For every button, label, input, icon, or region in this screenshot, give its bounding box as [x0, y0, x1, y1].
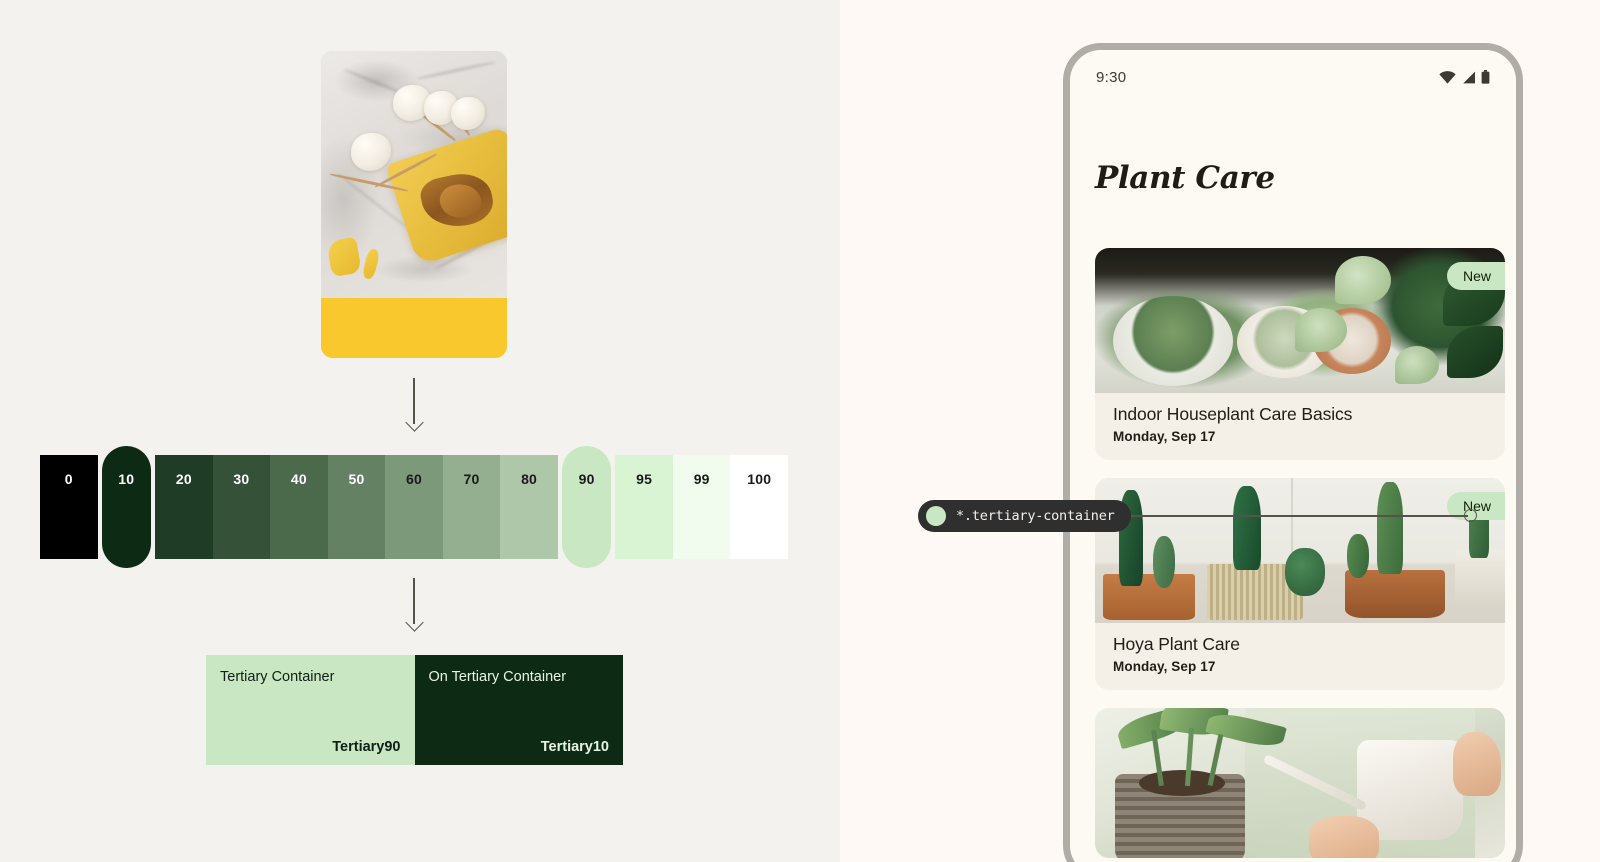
- tone-swatch-80[interactable]: 80: [500, 455, 558, 559]
- color-role-title: Tertiary Container: [220, 669, 401, 685]
- tone-swatch-label: 10: [118, 471, 134, 487]
- card-date: Monday, Sep 17: [1113, 659, 1487, 674]
- card-image-succulents: New: [1095, 248, 1505, 393]
- phone-mockup: 9:30 Plant Care: [1063, 43, 1523, 862]
- tone-swatch-40[interactable]: 40: [270, 455, 328, 559]
- tone-swatch-50[interactable]: 50: [328, 455, 386, 559]
- arrow-down-icon-1: [407, 378, 421, 430]
- tone-swatch-99[interactable]: 99: [673, 455, 731, 559]
- status-bar: 9:30: [1070, 50, 1516, 104]
- small-cactus: [1153, 536, 1175, 588]
- tone-swatch-label: 30: [233, 471, 249, 487]
- token-color-swatch-icon: [926, 506, 946, 526]
- tone-swatch-0[interactable]: 0: [40, 455, 98, 559]
- tone-swatch-70[interactable]: 70: [443, 455, 501, 559]
- card-text: Indoor Houseplant Care Basics Monday, Se…: [1095, 393, 1505, 460]
- tone-swatch-label: 90: [579, 471, 595, 487]
- card-title: Indoor Houseplant Care Basics: [1113, 404, 1487, 425]
- token-name: *.tertiary-container: [956, 508, 1115, 524]
- tone-swatch-label: 80: [521, 471, 537, 487]
- tall-cactus: [1377, 482, 1403, 574]
- tonal-palette-ramp: 01020304050607080909599100: [40, 455, 788, 559]
- tone-swatch-60[interactable]: 60: [385, 455, 443, 559]
- hand: [1309, 816, 1379, 858]
- tone-swatch-label: 60: [406, 471, 422, 487]
- article-card[interactable]: New Hoya Plant Care Monday, Sep 17: [1095, 478, 1505, 690]
- battery-icon: [1481, 70, 1490, 84]
- pot-string-of-pearls: [1113, 296, 1233, 386]
- arrow-down-icon-2: [407, 578, 421, 630]
- tone-swatch-100[interactable]: 100: [730, 455, 788, 559]
- color-role-token: Tertiary90: [332, 739, 400, 755]
- wifi-icon: [1439, 71, 1456, 84]
- tone-swatch-10[interactable]: 10: [102, 446, 152, 568]
- card-image-watering: [1095, 708, 1505, 858]
- tone-swatch-label: 50: [348, 471, 364, 487]
- pot-terracotta-trough: [1103, 574, 1195, 620]
- article-card-list: New Indoor Houseplant Care Basics Monday…: [1095, 248, 1505, 862]
- page-title: Plant Care: [1095, 160, 1275, 196]
- status-bar-icons: [1439, 70, 1490, 84]
- card-image-cacti: New: [1095, 478, 1505, 623]
- new-badge[interactable]: New: [1447, 262, 1505, 290]
- annotation-connector-line: [1118, 515, 1468, 517]
- tone-swatch-label: 99: [694, 471, 710, 487]
- color-role-token: Tertiary10: [541, 739, 609, 755]
- tone-swatch-label: 70: [464, 471, 480, 487]
- status-bar-clock: 9:30: [1096, 69, 1126, 86]
- tone-swatch-20[interactable]: 20: [155, 455, 213, 559]
- color-role-title: On Tertiary Container: [429, 669, 610, 685]
- tone-swatch-label: 0: [65, 471, 73, 487]
- source-photograph: [321, 51, 507, 299]
- token-tooltip[interactable]: *.tertiary-container: [918, 500, 1131, 532]
- color-role-box[interactable]: Tertiary ContainerTertiary90: [206, 655, 415, 765]
- tone-swatch-label: 20: [176, 471, 192, 487]
- tone-swatch-30[interactable]: 30: [213, 455, 271, 559]
- round-leaf: [1335, 256, 1391, 304]
- round-cactus: [1285, 548, 1325, 596]
- tone-swatch-90[interactable]: 90: [562, 446, 612, 568]
- round-leaf: [1295, 308, 1347, 352]
- tone-swatch-label: 100: [747, 471, 771, 487]
- source-image-card[interactable]: [321, 51, 507, 358]
- article-card[interactable]: New Indoor Houseplant Care Basics Monday…: [1095, 248, 1505, 460]
- article-card[interactable]: [1095, 708, 1505, 858]
- color-role-boxes: Tertiary ContainerTertiary90On Tertiary …: [206, 655, 623, 765]
- pot-white: [1455, 550, 1505, 608]
- screenshot-stage: 01020304050607080909599100 Tertiary Cont…: [0, 0, 1600, 862]
- small-cactus: [1347, 534, 1369, 578]
- card-date: Monday, Sep 17: [1113, 429, 1487, 444]
- tall-cactus: [1233, 486, 1261, 570]
- extracted-color-swatch: [321, 298, 507, 358]
- hand: [1453, 732, 1501, 796]
- palette-derivation-panel: 01020304050607080909599100 Tertiary Cont…: [0, 0, 840, 862]
- phone-screen: 9:30 Plant Care: [1070, 50, 1516, 862]
- color-role-box[interactable]: On Tertiary ContainerTertiary10: [415, 655, 624, 765]
- card-title: Hoya Plant Care: [1113, 634, 1487, 655]
- cellular-signal-icon: [1461, 71, 1476, 84]
- tone-swatch-label: 40: [291, 471, 307, 487]
- round-leaf: [1395, 346, 1439, 384]
- tone-swatch-95[interactable]: 95: [615, 455, 673, 559]
- annotation-connector-endpoint: [1464, 509, 1477, 522]
- card-text: Hoya Plant Care Monday, Sep 17: [1095, 623, 1505, 690]
- new-badge-label: New: [1463, 268, 1491, 284]
- tone-swatch-label: 95: [636, 471, 652, 487]
